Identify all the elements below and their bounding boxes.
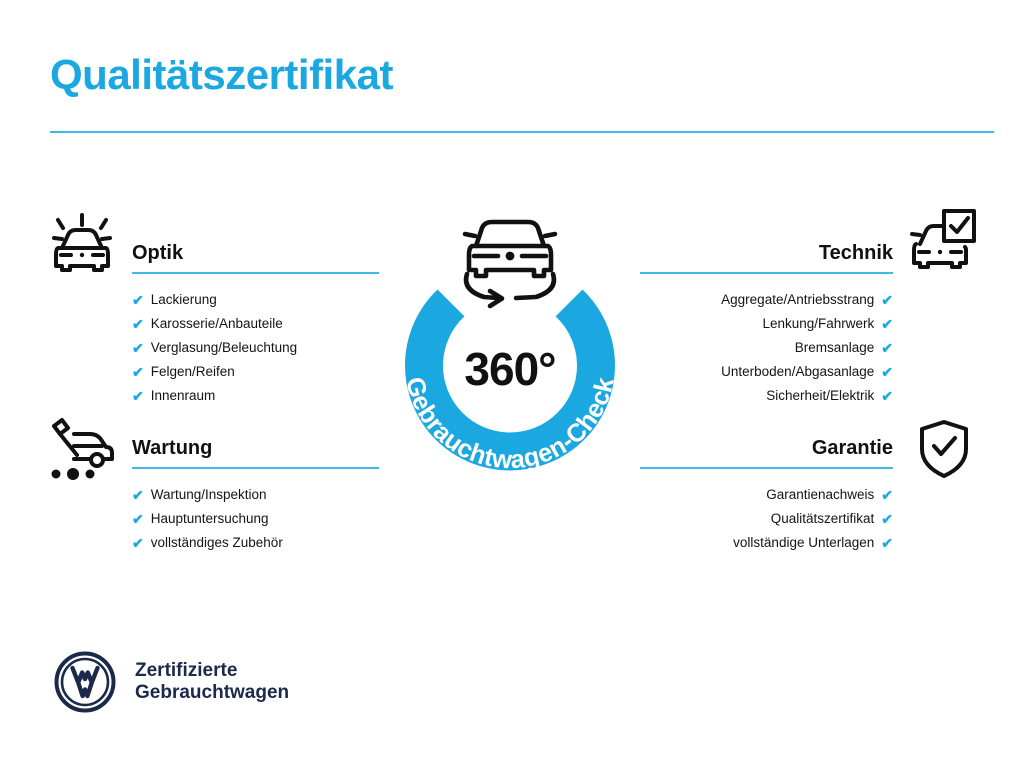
check-icon: ✔ (132, 488, 144, 502)
header-divider (50, 131, 994, 133)
checklist-item-label: Wartung/Inspektion (151, 483, 267, 507)
checklist-item: Aggregate/Antriebsstrang✔ (640, 288, 893, 312)
checklist-item: Garantienachweis✔ (640, 483, 893, 507)
checklist-item-label: Garantienachweis (766, 483, 874, 507)
section-title-garantie: Garantie (640, 438, 893, 458)
badge-ring-graphic: Gebrauchtwagen-Check (382, 196, 638, 488)
checklist-item: ✔vollständiges Zubehör (132, 531, 379, 555)
section-divider-wartung (132, 467, 379, 469)
check-icon: ✔ (881, 536, 893, 550)
checklist-item: ✔Felgen/Reifen (132, 360, 379, 384)
page-title: Qualitätszertifikat (50, 52, 393, 98)
check-icon: ✔ (132, 365, 144, 379)
checklist-item: Lenkung/Fahrwerk✔ (640, 312, 893, 336)
check-icon: ✔ (881, 389, 893, 403)
check-icon: ✔ (881, 365, 893, 379)
checklist-item: Sicherheit/Elektrik✔ (640, 384, 893, 408)
section-title-technik: Technik (640, 243, 893, 263)
checklist-item-label: Bremsanlage (795, 336, 875, 360)
car-rotate-360-icon (465, 222, 555, 306)
section-wartung: Wartung ✔Wartung/Inspektion✔Hauptuntersu… (132, 438, 379, 555)
section-list-optik: ✔Lackierung✔Karosserie/Anbauteile✔Vergla… (132, 288, 379, 408)
check-icon: ✔ (881, 293, 893, 307)
checklist-item: ✔Lackierung (132, 288, 379, 312)
checklist-item: vollständige Unterlagen✔ (640, 531, 893, 555)
vw-wordmark: Zertifizierte Gebrauchtwagen (135, 660, 289, 704)
checklist-item-label: Innenraum (151, 384, 216, 408)
checklist-item-label: Verglasung/Beleuchtung (151, 336, 297, 360)
checklist-item-label: Felgen/Reifen (151, 360, 235, 384)
checklist-item-label: vollständiges Zubehör (151, 531, 283, 555)
section-divider-technik (640, 272, 893, 274)
section-title-optik: Optik (132, 243, 379, 263)
checklist-item: ✔Verglasung/Beleuchtung (132, 336, 379, 360)
section-title-wartung: Wartung (132, 438, 379, 458)
checklist-item: ✔Wartung/Inspektion (132, 483, 379, 507)
car-wrench-service-icon (44, 416, 120, 487)
checklist-item-label: vollständige Unterlagen (733, 531, 874, 555)
checklist-item-label: Karosserie/Anbauteile (151, 312, 283, 336)
section-list-garantie: Garantienachweis✔Qualitätszertifikat✔vol… (640, 483, 893, 555)
vw-logo (54, 651, 116, 713)
section-divider-garantie (640, 467, 893, 469)
checklist-item: Bremsanlage✔ (640, 336, 893, 360)
checklist-item-label: Lenkung/Fahrwerk (762, 312, 874, 336)
shield-check-icon (916, 418, 972, 485)
vw-certified-logo-lockup: Zertifizierte Gebrauchtwagen (54, 651, 289, 713)
check-icon: ✔ (132, 341, 144, 355)
checklist-item: ✔Hauptuntersuchung (132, 507, 379, 531)
check-icon: ✔ (132, 536, 144, 550)
vw-wordmark-line1: Zertifizierte (135, 660, 289, 682)
section-garantie: Garantie Garantienachweis✔Qualitätszerti… (640, 438, 893, 555)
car-shine-icon (46, 208, 118, 281)
section-technik: Technik Aggregate/Antriebsstrang✔Lenkung… (640, 243, 893, 408)
check-icon: ✔ (881, 341, 893, 355)
checklist-item: Qualitätszertifikat✔ (640, 507, 893, 531)
checklist-item: ✔Innenraum (132, 384, 379, 408)
checklist-item-label: Hauptuntersuchung (151, 507, 269, 531)
checklist-item-label: Sicherheit/Elektrik (766, 384, 874, 408)
section-list-technik: Aggregate/Antriebsstrang✔Lenkung/Fahrwer… (640, 288, 893, 408)
section-optik: Optik ✔Lackierung✔Karosserie/Anbauteile✔… (132, 243, 379, 408)
checklist-item-label: Lackierung (151, 288, 217, 312)
check-icon: ✔ (881, 317, 893, 331)
checklist-item-label: Aggregate/Antriebsstrang (721, 288, 874, 312)
checklist-item: ✔Karosserie/Anbauteile (132, 312, 379, 336)
checklist-item-label: Unterboden/Abgasanlage (721, 360, 874, 384)
car-checkbox-icon (908, 208, 978, 279)
check-icon: ✔ (132, 317, 144, 331)
section-list-wartung: ✔Wartung/Inspektion✔Hauptuntersuchung✔vo… (132, 483, 379, 555)
check-icon: ✔ (881, 512, 893, 526)
checklist-item: Unterboden/Abgasanlage✔ (640, 360, 893, 384)
checklist-item-label: Qualitätszertifikat (771, 507, 875, 531)
gebrauchtwagen-check-badge: Gebrauchtwagen-Check 360° (382, 196, 638, 488)
check-icon: ✔ (132, 293, 144, 307)
vw-wordmark-line2: Gebrauchtwagen (135, 682, 289, 704)
check-icon: ✔ (132, 389, 144, 403)
section-divider-optik (132, 272, 379, 274)
check-icon: ✔ (881, 488, 893, 502)
check-icon: ✔ (132, 512, 144, 526)
